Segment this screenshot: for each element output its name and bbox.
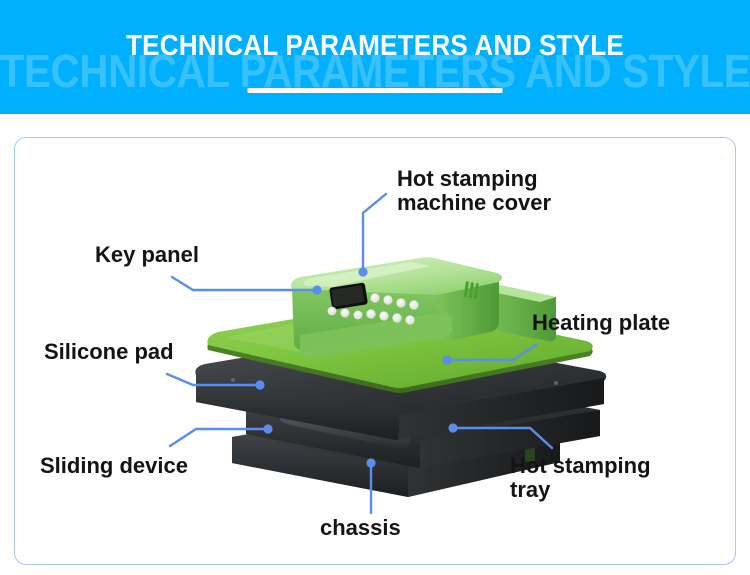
callout-label-hot-stamping-tray: Hot stamping tray xyxy=(510,454,651,502)
page-header: TECHNICAL PARAMETERS AND STYLE TECHNICAL… xyxy=(0,0,750,114)
callout-label-chassis: chassis xyxy=(320,516,401,540)
page-root: TECHNICAL PARAMETERS AND STYLE TECHNICAL… xyxy=(0,0,750,575)
callout-label-silicone-pad: Silicone pad xyxy=(44,340,174,364)
callout-label-key-panel: Key panel xyxy=(95,243,199,267)
callout-label-hot-stamping-machine-cover: Hot stamping machine cover xyxy=(397,167,551,215)
page-title: TECHNICAL PARAMETERS AND STYLE xyxy=(126,30,624,63)
callout-label-sliding-device: Sliding device xyxy=(40,454,188,478)
callout-label-heating-plate: Heating plate xyxy=(532,311,670,335)
title-underline xyxy=(248,88,503,93)
